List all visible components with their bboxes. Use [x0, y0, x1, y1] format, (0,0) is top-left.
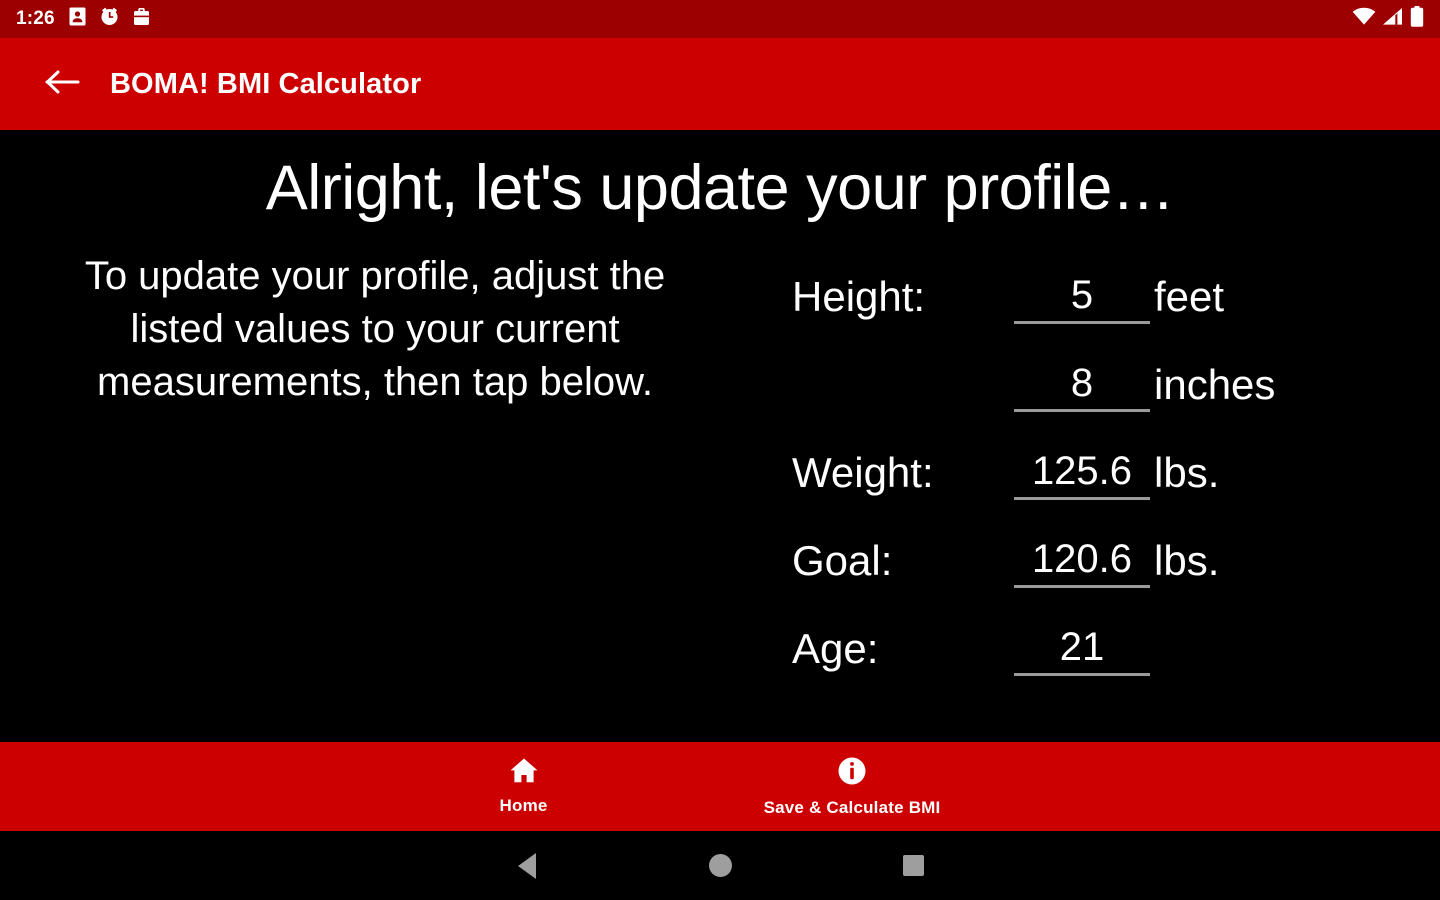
age-input[interactable]: 21 [1014, 627, 1150, 676]
circle-home-icon [709, 854, 732, 877]
status-bar-left: 1:26 [16, 7, 150, 31]
back-button[interactable] [40, 61, 86, 107]
back-arrow-icon [45, 67, 81, 102]
app-screen: 1:26 [0, 0, 1440, 900]
age-unit [1150, 670, 1154, 676]
main-content: Alright, let's update your profile… To u… [0, 130, 1440, 742]
system-back-button[interactable] [431, 853, 624, 879]
weight-input[interactable]: 125.6 [1014, 451, 1150, 500]
cell-signal-icon [1382, 7, 1404, 31]
goal-unit: lbs. [1150, 540, 1219, 588]
alarm-icon [100, 7, 119, 31]
android-system-nav [0, 831, 1440, 900]
weight-unit: lbs. [1150, 452, 1219, 500]
content-columns: To update your profile, adjust the liste… [0, 250, 1440, 690]
system-home-button[interactable] [624, 854, 817, 877]
height-inches-unit: inches [1150, 364, 1275, 412]
contact-card-icon [69, 7, 86, 31]
age-label: Age: [792, 628, 1014, 676]
nav-item-save-calculate-label: Save & Calculate BMI [764, 798, 941, 818]
height-feet-input[interactable]: 5 [1014, 275, 1150, 324]
nav-item-home[interactable]: Home [482, 757, 566, 816]
triangle-back-icon [518, 853, 536, 879]
nav-item-home-label: Home [500, 796, 548, 816]
info-icon [837, 756, 867, 791]
system-recents-button[interactable] [817, 855, 1010, 876]
field-row-height-feet: Height: 5 feet [792, 250, 1440, 324]
field-row-age: Age: 21 [792, 602, 1440, 676]
bottom-navigation: Home Save & Calculate BMI [0, 742, 1440, 831]
instructions-text: To update your profile, adjust the liste… [60, 250, 690, 410]
status-bar-clock: 1:26 [16, 8, 55, 30]
goal-label: Goal: [792, 540, 1014, 588]
field-row-height-inches: Height: 8 inches [792, 338, 1440, 412]
nav-item-save-calculate[interactable]: Save & Calculate BMI [746, 756, 959, 818]
instructions-column: To update your profile, adjust the liste… [0, 250, 720, 690]
app-bar-title: BOMA! BMI Calculator [110, 68, 421, 101]
square-recents-icon [903, 855, 924, 876]
page-headline: Alright, let's update your profile… [0, 152, 1440, 224]
wifi-icon [1352, 7, 1376, 31]
field-row-goal: Goal: 120.6 lbs. [792, 514, 1440, 588]
field-row-weight: Weight: 125.6 lbs. [792, 426, 1440, 500]
app-bar: BOMA! BMI Calculator [0, 38, 1440, 130]
height-inches-input[interactable]: 8 [1014, 363, 1150, 412]
status-bar-right [1352, 6, 1428, 32]
profile-form: Height: 5 feet Height: 8 inches Weight: … [720, 250, 1440, 690]
height-label: Height: [792, 276, 1014, 324]
briefcase-icon [133, 7, 150, 31]
weight-label: Weight: [792, 452, 1014, 500]
status-bar: 1:26 [0, 0, 1440, 38]
battery-icon [1410, 6, 1424, 32]
height-feet-unit: feet [1150, 276, 1224, 324]
goal-input[interactable]: 120.6 [1014, 539, 1150, 588]
home-icon [509, 757, 539, 789]
